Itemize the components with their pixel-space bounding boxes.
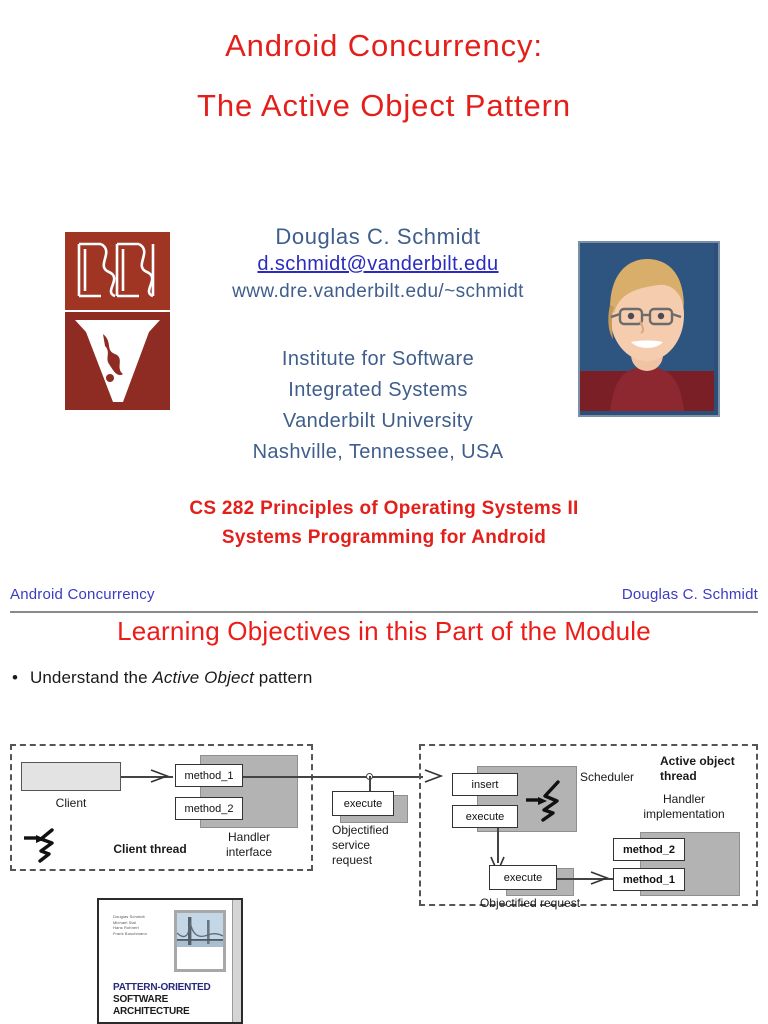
handler-method-2-box: method_2 [175, 797, 243, 820]
scheduler-execute-box: execute [452, 805, 518, 828]
hi-line-1: Handler [663, 792, 705, 806]
book-spine [232, 900, 241, 1022]
course-block: CS 282 Principles of Operating Systems I… [134, 494, 634, 552]
book-title-line-1: PATTERN-ORIENTED [113, 982, 211, 994]
slide-header: Android Concurrency Douglas C. Schmidt [10, 586, 758, 610]
objectified-service-request-label: Objectified service request [332, 823, 422, 868]
scheduler-insert-box: insert [452, 773, 518, 796]
arrow-client-to-handler-icon [149, 768, 171, 784]
osr-line-3: request [332, 853, 372, 867]
handler-to-scheduler-line [243, 776, 423, 778]
book-author-1: Douglas Schmidt [113, 914, 147, 920]
objectified-service-request-execute-box: execute [332, 791, 394, 816]
presenter-photo [578, 241, 720, 417]
client-label: Client [21, 796, 121, 811]
author-name: Douglas C. Schmidt [178, 222, 578, 251]
handler-implementation-label: Handler implementation [610, 792, 758, 822]
arrow-request-to-impl-icon [589, 870, 611, 886]
aot-line-2: thread [660, 769, 697, 783]
portrait-illustration [580, 243, 714, 411]
affiliation-line-2: Integrated Systems [178, 375, 578, 406]
client-box [21, 762, 121, 791]
handler-interface-label-line-1: Handler [228, 830, 270, 844]
impl-method-2-box: method_2 [613, 838, 685, 861]
bullet-dot-icon: • [12, 668, 30, 688]
author-block: Douglas C. Schmidt d.schmidt@vanderbilt.… [178, 222, 578, 305]
osr-line-2: service [332, 838, 370, 852]
aot-line-1: Active object [660, 754, 735, 768]
handler-method-1-box: method_1 [175, 764, 243, 787]
book-cover-photo [174, 910, 226, 972]
bullet-item: •Understand the Active Object pattern [12, 668, 712, 688]
presentation-title-line-2: The Active Object Pattern [0, 88, 768, 124]
course-line-2: Systems Programming for Android [134, 523, 634, 552]
posa-book-cover: Douglas Schmidt Michael Stal Hans Rohner… [97, 898, 243, 1024]
objectified-request-execute-box: execute [489, 865, 557, 890]
book-author-4: Frank Buschmann [113, 931, 147, 937]
bullet-text-italic: Active Object [152, 668, 253, 687]
hi-line-2: implementation [643, 807, 724, 821]
handler-interface-label-line-2: interface [226, 845, 272, 859]
book-title-line-2: SOFTWARE [113, 994, 211, 1006]
handler-interface-label: Handler interface [200, 830, 298, 860]
header-divider [10, 611, 758, 613]
vanderbilt-v-icon [65, 312, 170, 410]
logo-bottom-panel [65, 312, 170, 410]
affiliation-line-4: Nashville, Tennessee, USA [178, 437, 578, 468]
impl-method-1-box: method_1 [613, 868, 685, 891]
bullet-text-post: pattern [254, 668, 312, 687]
bullet-text-pre: Understand the [30, 668, 152, 687]
book-title: PATTERN-ORIENTED SOFTWARE ARCHITECTURE [113, 982, 211, 1018]
scheduler-thread-squiggle-icon [524, 778, 566, 822]
osr-line-1: Objectified [332, 823, 389, 837]
header-left-title: Android Concurrency [10, 586, 155, 603]
presentation-title-line-1: Android Concurrency: [0, 28, 768, 64]
affiliation-line-3: Vanderbilt University [178, 406, 578, 437]
client-thread-squiggle-icon [22, 826, 62, 864]
slide-heading: Learning Objectives in this Part of the … [10, 616, 758, 647]
course-line-1: CS 282 Principles of Operating Systems I… [134, 494, 634, 523]
author-website[interactable]: www.dre.vanderbilt.edu/~schmidt [178, 278, 578, 305]
objectified-request-label: Objectified request [460, 896, 600, 911]
book-title-line-3: ARCHITECTURE [113, 1006, 211, 1018]
golden-gate-bridge-icon [177, 913, 223, 969]
header-right-author: Douglas C. Schmidt [622, 586, 758, 603]
affiliation-line-1: Institute for Software [178, 344, 578, 375]
book-author-list: Douglas Schmidt Michael Stal Hans Rohner… [113, 914, 147, 936]
isis-wordmark-icon [65, 232, 170, 310]
active-object-thread-label: Active object thread [660, 754, 755, 784]
title-slide: Android Concurrency: The Active Object P… [0, 0, 768, 580]
affiliation-block: Institute for Software Integrated System… [178, 344, 578, 468]
scheduler-label: Scheduler [580, 770, 660, 785]
author-email-link[interactable]: d.schmidt@vanderbilt.edu [178, 251, 578, 278]
isis-vanderbilt-logo [65, 232, 170, 410]
logo-top-panel [65, 232, 170, 310]
client-thread-label: Client thread [95, 842, 205, 857]
